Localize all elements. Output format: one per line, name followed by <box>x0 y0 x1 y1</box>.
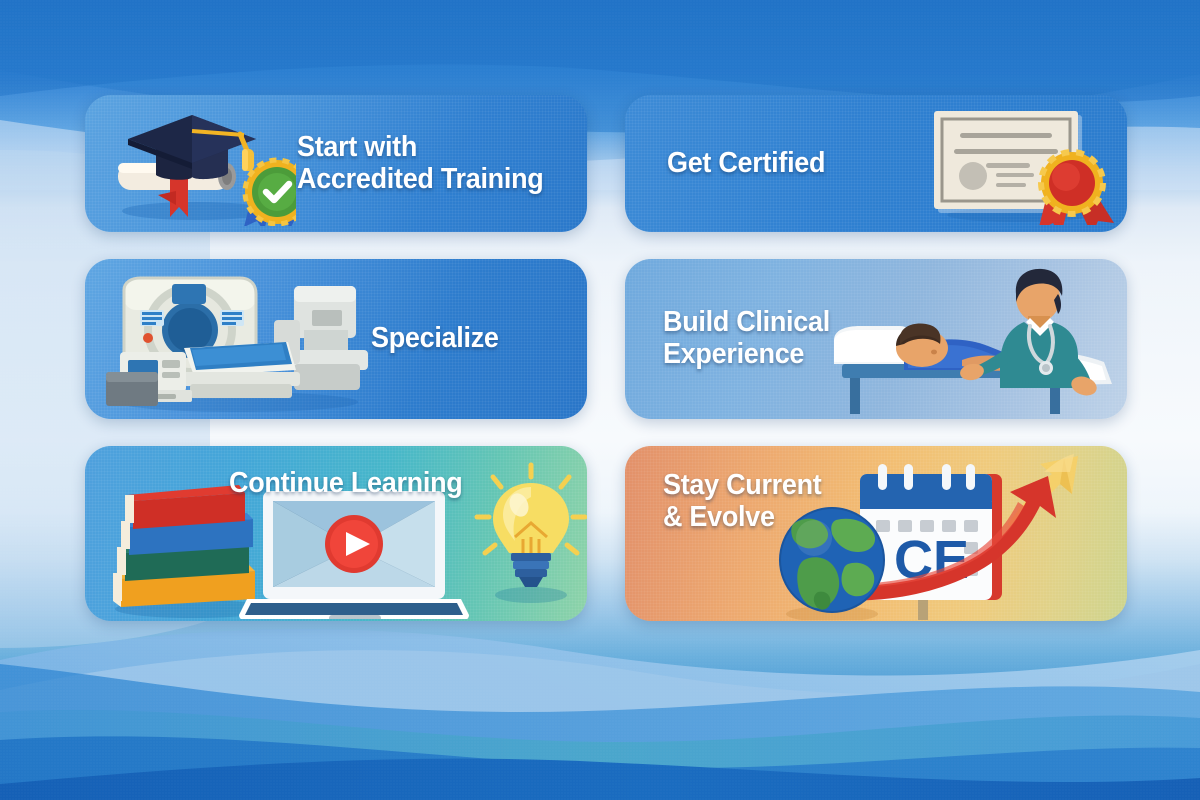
ct-mri-scanner-icon <box>95 259 385 419</box>
card-stay-current-and-evolve[interactable]: CE <box>625 446 1127 621</box>
clinician-patient-bedside-icon <box>807 259 1127 419</box>
graduation-cap-diploma-badge-icon <box>91 95 301 232</box>
card-specialize[interactable]: Specialize <box>85 259 587 419</box>
card-label: Start with Accredited Training <box>297 132 543 196</box>
card-continue-learning[interactable]: Continue Learning <box>85 446 587 621</box>
card-get-certified[interactable]: Get Certified <box>625 95 1127 232</box>
card-label: Stay Current & Evolve <box>663 470 822 534</box>
card-build-clinical-experience[interactable]: Build Clinical Experience <box>625 259 1127 419</box>
card-label: Get Certified <box>667 148 825 180</box>
card-label: Build Clinical Experience <box>663 307 830 371</box>
card-start-with-accredited-training[interactable]: Start with Accredited Training <box>85 95 587 232</box>
steps-grid: Start with Accredited Training <box>85 95 1127 625</box>
card-label: Specialize <box>371 323 499 355</box>
card-label: Continue Learning <box>229 468 462 500</box>
certificate-ribbon-icon <box>919 95 1119 232</box>
infographic-canvas: Start with Accredited Training <box>0 0 1200 800</box>
